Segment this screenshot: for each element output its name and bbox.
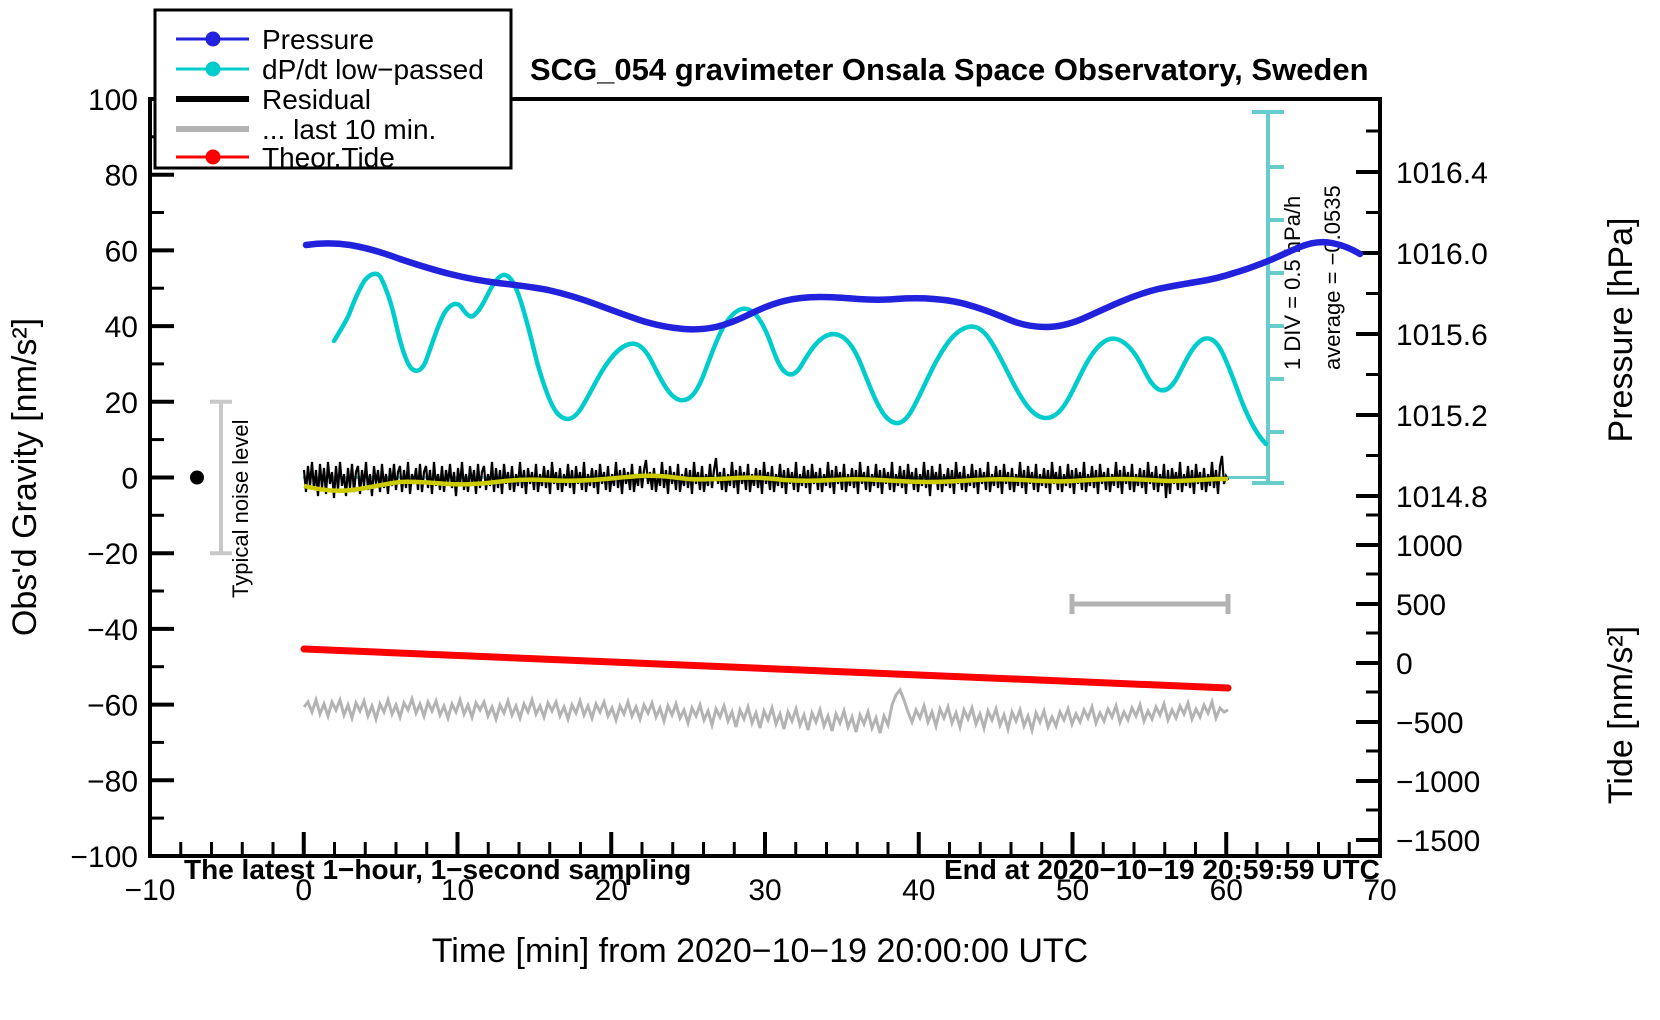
y-left-tick-3: 40: [105, 311, 138, 344]
end-time-note: End at 2020−10−19 20:59:59 UTC: [944, 854, 1380, 885]
y-left-axis: 100 80 60 40 20 0 −20 −40 −60 −80 −100: [70, 84, 174, 874]
legend-label-dpdt: dP/dt low−passed: [262, 54, 484, 85]
gravimeter-plot: 100 80 60 40 20 0 −20 −40 −60 −80 −100 O…: [0, 0, 1660, 1020]
y-left-tick-6: −20: [87, 538, 138, 571]
series-pressure: [306, 242, 1360, 329]
legend-label-pressure: Pressure: [262, 24, 374, 55]
x-axis-title: Time [min] from 2020−10−19 20:00:00 UTC: [432, 932, 1088, 970]
y-left-tick-9: −80: [87, 765, 138, 798]
y-left-tick-8: −60: [87, 690, 138, 723]
noise-level-indicator: [190, 402, 232, 553]
y-right-tide-title: Tide [nm/s²]: [1602, 626, 1640, 804]
legend-label-tide: Theor.Tide: [262, 142, 395, 173]
tide-marker-icon: [206, 150, 221, 165]
average-label: average = −0.0535: [1320, 185, 1345, 370]
y-right-tide-tick-1: 500: [1396, 589, 1446, 622]
y-right-axis: 1016.4 1016.0 1015.6 1015.2 1014.8 1000 …: [1356, 131, 1488, 858]
series-tide: [304, 649, 1228, 688]
y-right-pressure-tick-4: 1014.8: [1396, 481, 1488, 514]
y-left-tick-4: 20: [105, 387, 138, 420]
legend[interactable]: Pressure dP/dt low−passed Residual ... l…: [155, 10, 511, 173]
y-left-tick-2: 60: [105, 235, 138, 268]
chart-canvas: 100 80 60 40 20 0 −20 −40 −60 −80 −100 O…: [0, 0, 1660, 1020]
dpdt-marker-icon: [206, 62, 221, 77]
legend-label-residual: Residual: [262, 84, 371, 115]
y-left-tick-5: 0: [121, 463, 138, 496]
y-right-pressure-tick-3: 1015.2: [1396, 400, 1488, 433]
series-residual: [304, 456, 1228, 498]
y-right-pressure-tick-1: 1016.0: [1396, 238, 1488, 271]
y-right-pressure-title: Pressure [hPa]: [1602, 218, 1640, 443]
div-scale-label: 1 DIV = 0.5 hPa/h: [1280, 196, 1305, 370]
y-right-pressure-tick-0: 1016.4: [1396, 157, 1488, 190]
y-right-tide-tick-3: −500: [1396, 707, 1464, 740]
x-tick-4: 30: [748, 874, 781, 907]
y-right-tide-tick-5: −1500: [1396, 825, 1480, 858]
y-right-tide-tick-2: 0: [1396, 648, 1413, 681]
series-last10: [304, 690, 1228, 733]
y-right-tide-tick-0: 1000: [1396, 530, 1463, 563]
y-right-pressure-tick-2: 1015.6: [1396, 319, 1488, 352]
y-left-tick-7: −40: [87, 614, 138, 647]
ten-min-scale-bar: [1072, 594, 1228, 614]
y-left-axis-title: Obs'd Gravity [nm/s²]: [6, 318, 44, 636]
y-left-tick-0: 100: [88, 84, 138, 117]
page-title: SCG_054 gravimeter Onsala Space Observat…: [530, 52, 1369, 87]
pressure-marker-icon: [206, 32, 221, 47]
noise-level-label: Typical noise level: [228, 419, 253, 598]
y-right-tide-tick-4: −1000: [1396, 766, 1480, 799]
legend-label-last10: ... last 10 min.: [262, 114, 436, 145]
x-tick-5: 40: [902, 874, 935, 907]
sampling-note: The latest 1−hour, 1−second sampling: [184, 854, 691, 885]
y-left-tick-1: 80: [105, 160, 138, 193]
series-dpdt: [303, 274, 1268, 478]
x-tick-0: −10: [125, 874, 176, 907]
y-left-tick-10: −100: [70, 841, 138, 874]
